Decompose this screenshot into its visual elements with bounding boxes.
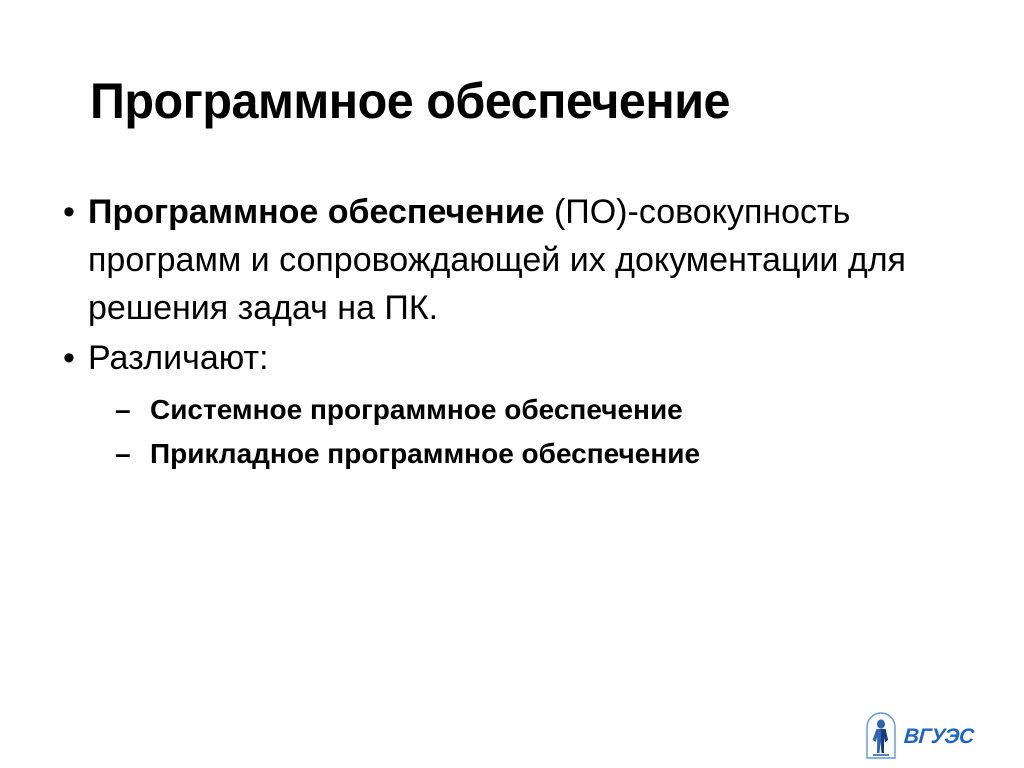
bullet-marker-icon: • [55,188,88,236]
list-item-label: Прикладное программное обеспечение [150,432,975,476]
vgues-figure-emblem-icon [864,711,898,761]
dash-marker-icon: – [115,388,150,432]
slide-body: • Программное обеспечение (ПО)-совокупно… [55,188,975,476]
dash-marker-icon: – [115,432,150,476]
list-item-system-software: – Системное программное обеспечение [55,388,975,432]
list-item-application-software: – Прикладное программное обеспечение [55,432,975,476]
bullet-marker-icon: • [55,334,88,382]
slide: Программное обеспечение • Программное об… [0,0,1024,768]
university-logo: ВГУЭС [864,709,969,763]
bullet-item-categories: • Различают: [55,334,975,382]
subitem-list: – Системное программное обеспечение – Пр… [55,388,975,476]
bullet-item-definition: • Программное обеспечение (ПО)-совокупно… [55,188,975,332]
list-item-label: Системное программное обеспечение [150,388,975,432]
bullet-text-definition-bold: Программное обеспечение [88,193,545,231]
bullet-text-categories: Различают: [88,334,948,382]
bullet-text-definition: Программное обеспечение (ПО)-совокупност… [88,188,948,332]
bullet-text-categories-regular: Различают: [88,339,269,377]
page-title: Программное обеспечение [90,74,934,128]
university-logo-wordmark: ВГУЭС [903,726,974,747]
